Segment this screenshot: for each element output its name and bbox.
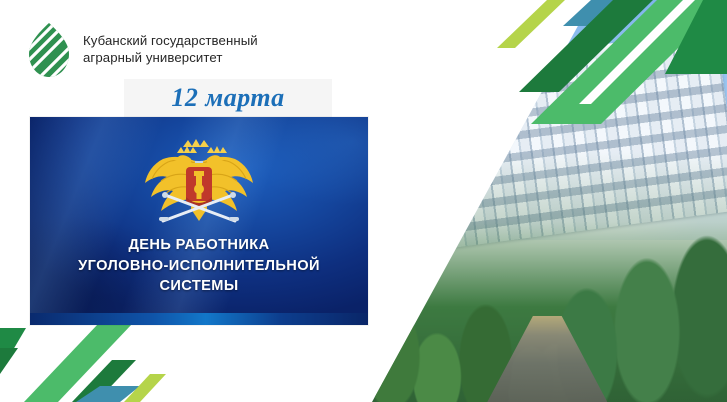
university-name-text: Кубанский государственный аграрный униве… xyxy=(83,33,258,67)
decorative-ribbons-top-right xyxy=(487,0,727,130)
ribbon-lime-icon xyxy=(497,0,565,48)
decorative-ribbons-bottom-left xyxy=(0,312,210,402)
slide-canvas: Кубанский государственный аграрный униве… xyxy=(0,0,727,402)
university-branding: Кубанский государственный аграрный униве… xyxy=(27,22,258,78)
event-poster-image: ДЕНЬ РАБОТНИКА УГОЛОВНО-ИСПОЛНИТЕЛЬНОЙ С… xyxy=(30,117,368,325)
kubgau-leaf-logo-icon xyxy=(27,22,71,78)
poster-caption-text: ДЕНЬ РАБОТНИКА УГОЛОВНО-ИСПОЛНИТЕЛЬНОЙ С… xyxy=(30,235,368,297)
ribbon-dark-green-icon xyxy=(0,348,18,374)
event-date: 12 марта xyxy=(124,80,332,116)
fsin-double-headed-eagle-emblem-icon xyxy=(139,133,259,235)
poster-bottom-bar xyxy=(30,313,368,325)
